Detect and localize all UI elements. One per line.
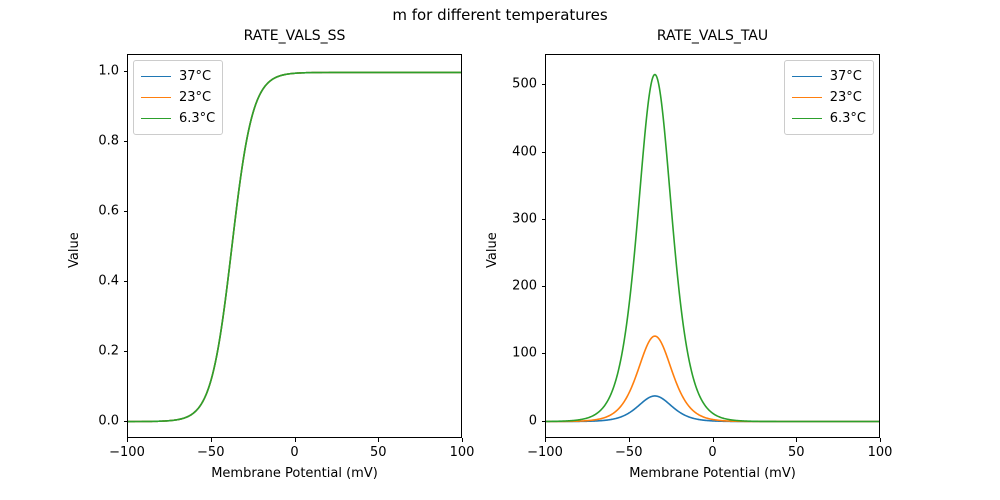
xlabel-left: Membrane Potential (mV) [127, 466, 462, 481]
legend-line-swatch [792, 118, 822, 119]
y-tick-mark [542, 286, 546, 287]
y-tick-label: 200 [483, 279, 537, 294]
y-tick-mark [542, 152, 546, 153]
curve-23°C [546, 336, 880, 421]
legend-line-swatch [792, 97, 822, 98]
legend-label: 6.3°C [179, 111, 215, 126]
ylabel-right: Value [485, 232, 500, 268]
y-tick-label: 0.4 [65, 273, 119, 288]
x-tick-mark [713, 438, 714, 442]
legend-right[interactable]: 37°C23°C6.3°C [784, 60, 874, 135]
x-tick-mark [545, 438, 546, 442]
y-tick-label: 0.8 [65, 134, 119, 149]
matplotlib-figure: m for different temperatures RATE_VALS_S… [0, 0, 1000, 500]
x-tick-mark [796, 438, 797, 442]
x-tick-mark [378, 438, 379, 442]
y-tick-label: 400 [483, 144, 537, 159]
x-tick-label: −50 [615, 445, 642, 460]
x-tick-mark [127, 438, 128, 442]
legend-line-swatch [792, 76, 822, 77]
y-tick-mark [124, 421, 128, 422]
x-tick-mark [629, 438, 630, 442]
x-tick-mark [211, 438, 212, 442]
y-tick-label: 0.2 [65, 343, 119, 358]
legend-label: 6.3°C [830, 111, 866, 126]
legend-label: 23°C [830, 90, 862, 105]
x-tick-mark [880, 438, 881, 442]
ylabel-left: Value [67, 232, 82, 268]
legend-line-swatch [141, 97, 171, 98]
y-tick-label: 0 [483, 413, 537, 428]
x-tick-mark [462, 438, 463, 442]
xlabel-right: Membrane Potential (mV) [545, 466, 880, 481]
axes-title-right: RATE_VALS_TAU [545, 28, 880, 44]
x-tick-mark [295, 438, 296, 442]
legend-row: 23°C [792, 87, 866, 108]
legend-label: 37°C [830, 69, 862, 84]
y-tick-label: 100 [483, 346, 537, 361]
legend-left[interactable]: 37°C23°C6.3°C [133, 60, 223, 135]
y-tick-mark [542, 421, 546, 422]
axes-title-left: RATE_VALS_SS [127, 28, 462, 44]
y-tick-mark [542, 84, 546, 85]
x-tick-label: 50 [788, 445, 805, 460]
x-tick-label: 0 [708, 445, 716, 460]
legend-row: 23°C [141, 87, 215, 108]
y-tick-mark [124, 281, 128, 282]
legend-row: 37°C [792, 66, 866, 87]
curve-37°C [546, 396, 880, 422]
x-tick-label: 100 [450, 445, 475, 460]
y-tick-mark [124, 351, 128, 352]
y-tick-label: 1.0 [65, 64, 119, 79]
y-tick-label: 0.6 [65, 204, 119, 219]
x-tick-label: −100 [527, 445, 563, 460]
legend-line-swatch [141, 118, 171, 119]
y-tick-label: 500 [483, 77, 537, 92]
y-tick-mark [542, 353, 546, 354]
y-tick-mark [124, 141, 128, 142]
legend-label: 23°C [179, 90, 211, 105]
y-tick-mark [124, 71, 128, 72]
legend-label: 37°C [179, 69, 211, 84]
axes-rate-vals-tau: RATE_VALS_TAU −100−500501000100200300400… [545, 54, 880, 438]
y-tick-label: 300 [483, 211, 537, 226]
x-tick-label: 100 [868, 445, 893, 460]
x-tick-label: 50 [370, 445, 387, 460]
legend-row: 37°C [141, 66, 215, 87]
x-tick-label: −50 [197, 445, 224, 460]
axes-rate-vals-ss: RATE_VALS_SS −100−500501000.00.20.40.60.… [127, 54, 462, 438]
y-tick-label: 0.0 [65, 413, 119, 428]
x-tick-label: −100 [109, 445, 145, 460]
figure-suptitle: m for different temperatures [0, 6, 1000, 24]
legend-row: 6.3°C [792, 108, 866, 129]
legend-row: 6.3°C [141, 108, 215, 129]
legend-line-swatch [141, 76, 171, 77]
x-tick-label: 0 [290, 445, 298, 460]
y-tick-mark [124, 211, 128, 212]
y-tick-mark [542, 219, 546, 220]
